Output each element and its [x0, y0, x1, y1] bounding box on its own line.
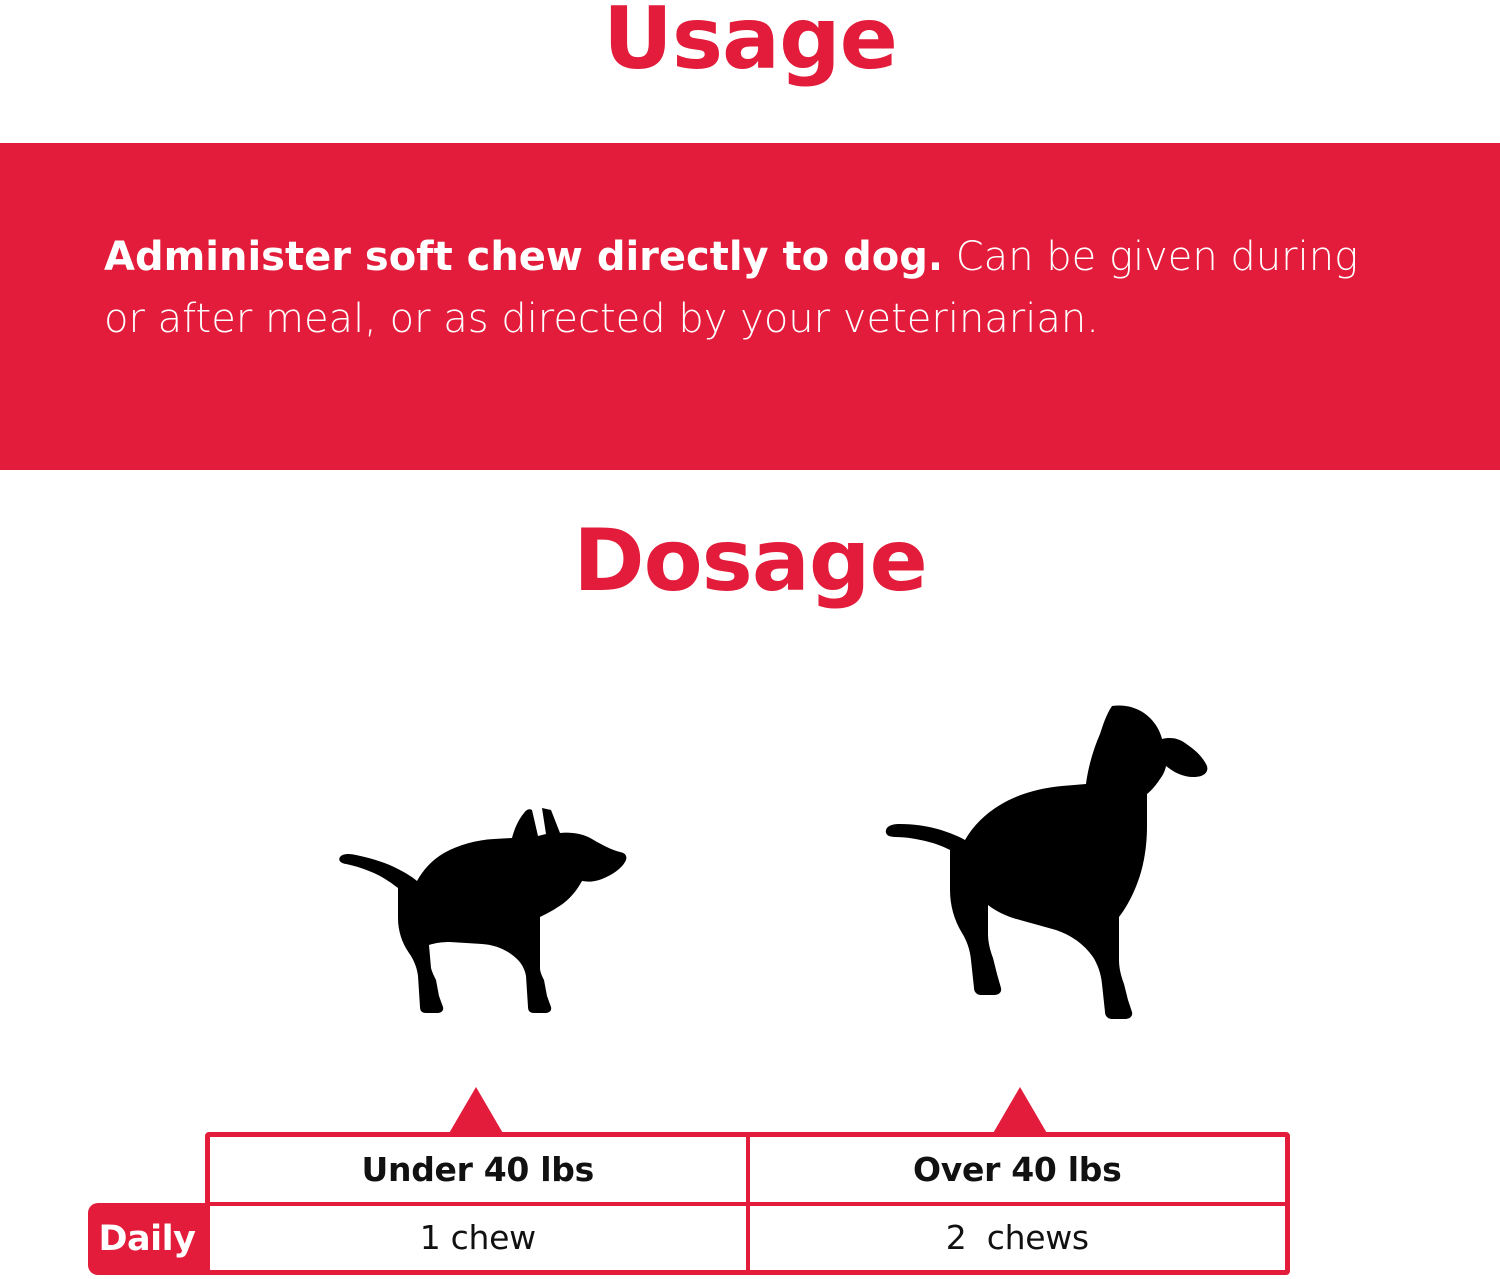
daily-row-label: Daily — [88, 1203, 210, 1275]
large-dog-silhouette — [840, 698, 1208, 1026]
dosage-value-over-40: 2 chews — [748, 1204, 1286, 1271]
usage-instruction-text: Administer soft chew directly to dog. Ca… — [104, 226, 1394, 350]
small-dog-silhouette — [336, 800, 628, 1026]
daily-row-label-text: Daily — [88, 1203, 206, 1275]
dosage-table: Under 40 lbs Over 40 lbs 1 chew 2 chews — [205, 1132, 1290, 1275]
pointer-triangle-under-40 — [448, 1087, 504, 1135]
usage-dosage-infographic: Usage Administer soft chew directly to d… — [0, 0, 1500, 1279]
dosage-header-over-40: Over 40 lbs — [748, 1137, 1286, 1204]
dosage-value-under-40: 1 chew — [210, 1204, 748, 1271]
usage-instruction-lead: Administer soft chew directly to dog. — [104, 234, 943, 280]
usage-instruction-banner: Administer soft chew directly to dog. Ca… — [0, 143, 1500, 470]
dosage-section-title: Dosage — [0, 518, 1500, 604]
dosage-header-under-40: Under 40 lbs — [210, 1137, 748, 1204]
pointer-triangle-over-40 — [992, 1087, 1048, 1135]
usage-section-title: Usage — [0, 0, 1500, 82]
